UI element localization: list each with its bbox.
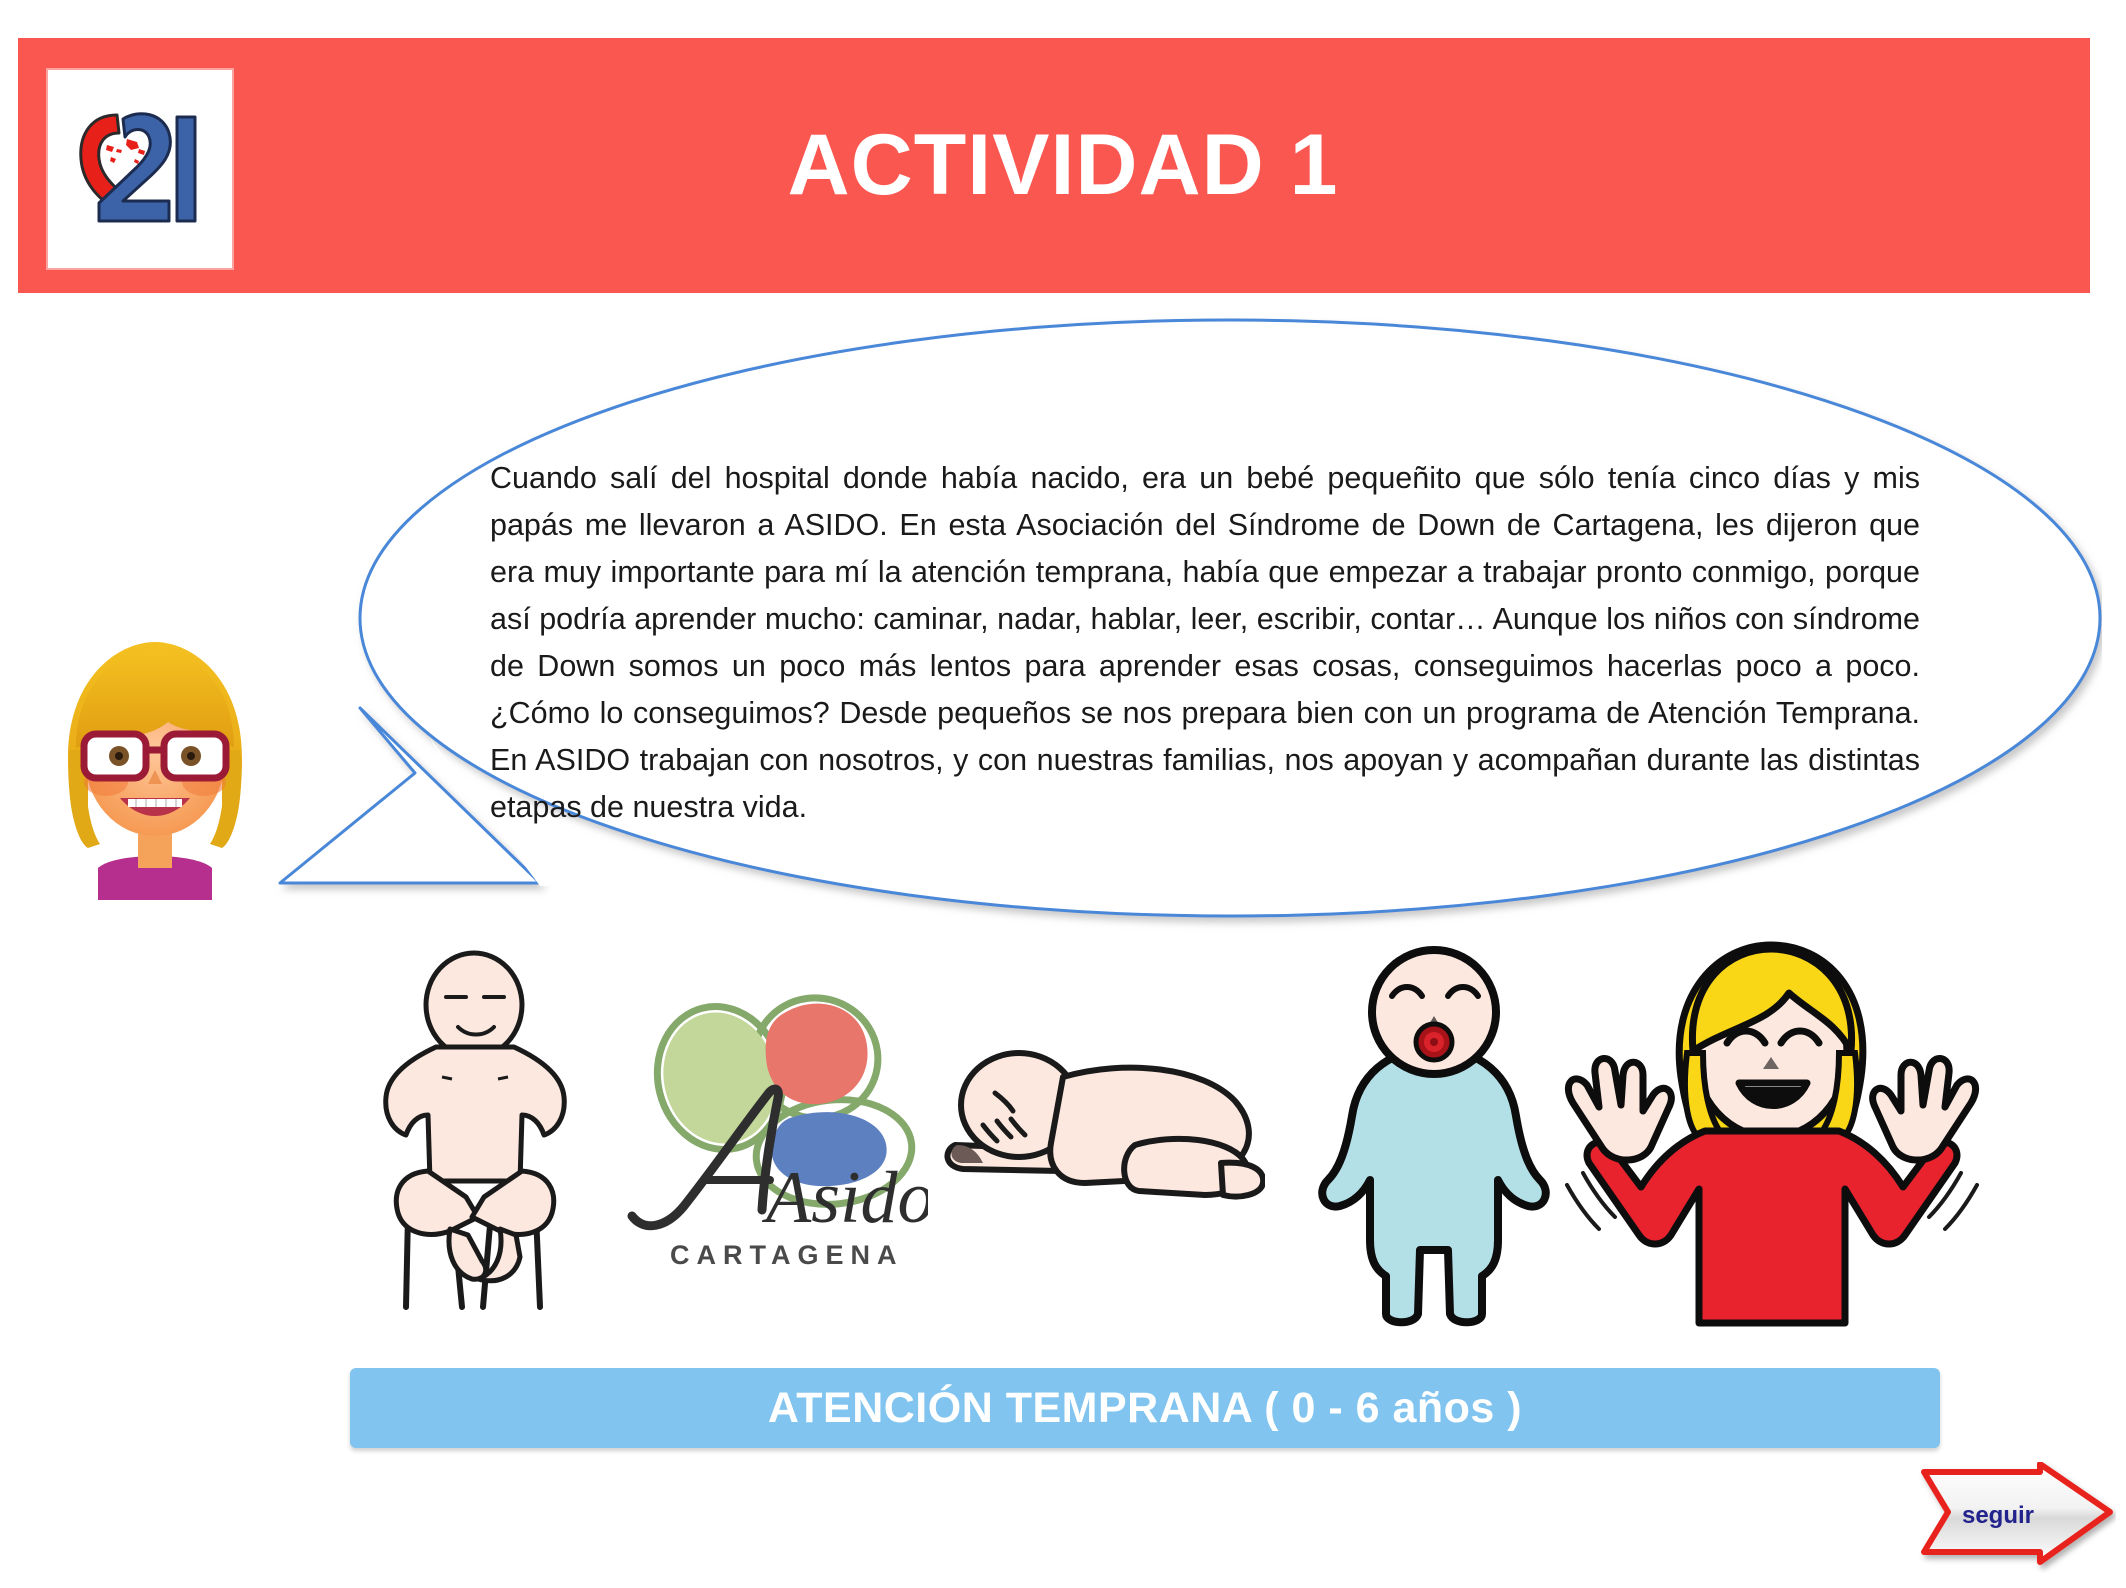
avatar-svg <box>40 630 270 900</box>
child-talking-svg <box>1310 940 1560 1330</box>
stage-banner: ATENCIÓN TEMPRANA ( 0 - 6 años ) <box>350 1368 1940 1448</box>
child-talking-pictogram <box>1290 930 1580 1340</box>
girl-with-glasses-avatar <box>40 630 270 900</box>
speech-bubble-text: Cuando salí del hospital donde había nac… <box>490 455 1920 831</box>
next-button[interactable]: seguir <box>1918 1462 2116 1574</box>
c21-heart-logo <box>48 70 232 268</box>
right-arrow-icon[interactable] <box>1918 1462 2116 1574</box>
baby-sitting-svg <box>350 935 600 1335</box>
baby-crawling-svg <box>935 1005 1265 1265</box>
c21-logo-svg <box>65 89 215 249</box>
girl-waving-svg <box>1553 935 1983 1335</box>
header-bar <box>18 38 2090 293</box>
girl-waving-pictogram <box>1545 930 1990 1340</box>
asido-cartagena-logo: Asido CARTAGENA <box>608 930 938 1340</box>
slide-root: ACTIVIDAD 1 Cuando salí del hospital don… <box>0 0 2126 1588</box>
asido-logo-svg: Asido CARTAGENA <box>618 970 928 1300</box>
stage-banner-label: ATENCIÓN TEMPRANA ( 0 - 6 años ) <box>768 1384 1522 1433</box>
pictogram-row: Asido CARTAGENA <box>330 930 1990 1340</box>
baby-crawling-pictogram <box>930 930 1270 1340</box>
asido-wordmark: Asido <box>761 1157 928 1239</box>
baby-sitting-pictogram <box>330 930 620 1340</box>
asido-sublabel: CARTAGENA <box>670 1240 904 1270</box>
